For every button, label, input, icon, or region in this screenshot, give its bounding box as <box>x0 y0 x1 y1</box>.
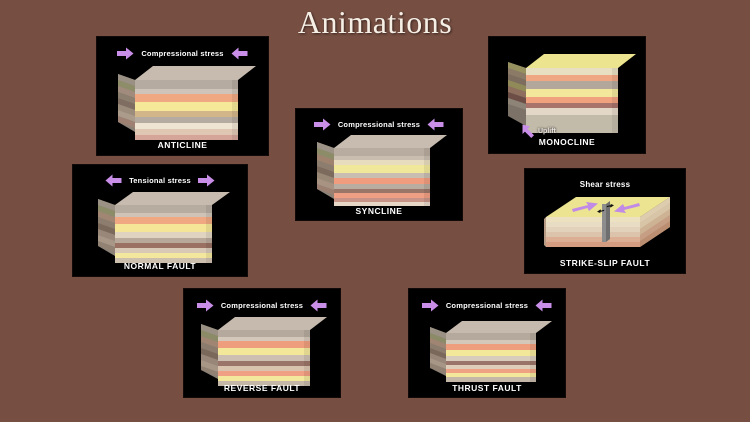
panel-strike-slip-fault[interactable]: Shear stress <box>524 168 686 274</box>
panel-anticline[interactable]: Compressional stress <box>96 36 269 156</box>
panel-label-monocline: MONOCLINE <box>489 137 645 147</box>
arrow-right-icon <box>422 299 439 312</box>
panel-label-normal-fault: NORMAL FAULT <box>73 261 247 271</box>
panel-monocline[interactable]: Uplift MONOCLINE <box>488 36 646 154</box>
panel-thrust-fault[interactable]: Compressional stress <box>408 288 566 398</box>
block-diagram-anticline <box>113 64 258 142</box>
panel-label-syncline: SYNCLINE <box>296 206 462 216</box>
panel-label-thrust-fault: THRUST FAULT <box>409 383 565 393</box>
panel-label-strike-slip: STRIKE-SLIP FAULT <box>525 258 685 268</box>
shear-stress-label: Shear stress <box>525 180 685 189</box>
uplift-label: Uplift <box>538 128 556 135</box>
arrow-left-icon <box>105 174 122 187</box>
arrow-left-icon <box>231 47 248 60</box>
arrow-right-icon <box>198 174 215 187</box>
panel-normal-fault[interactable]: Tensional stress <box>72 164 248 277</box>
panel-label-anticline: ANTICLINE <box>97 140 268 150</box>
arrow-left-icon <box>427 118 444 131</box>
arrow-right-icon <box>314 118 331 131</box>
stress-row-reverse-fault: Compressional stress <box>184 299 340 312</box>
arrow-right-icon <box>117 47 134 60</box>
stress-row-normal-fault: Tensional stress <box>73 174 247 187</box>
stress-label: Compressional stress <box>446 301 528 310</box>
stress-row-thrust-fault: Compressional stress <box>409 299 565 312</box>
panel-label-reverse-fault: REVERSE FAULT <box>184 383 340 393</box>
slide-canvas: Animations Compressional stress <box>0 0 750 422</box>
stress-row-anticline: Compressional stress <box>97 47 268 60</box>
stress-label: Compressional stress <box>338 120 420 129</box>
arrow-right-icon <box>197 299 214 312</box>
block-diagram-normal-fault <box>94 190 232 264</box>
panel-syncline[interactable]: Compressional stress <box>295 108 463 221</box>
block-diagram-syncline <box>313 133 449 207</box>
block-diagram-strike-slip <box>544 195 672 253</box>
block-diagram-thrust-fault <box>426 319 554 383</box>
stress-row-syncline: Compressional stress <box>296 118 462 131</box>
panel-reverse-fault[interactable]: Compressional stress <box>183 288 341 398</box>
arrow-left-icon <box>535 299 552 312</box>
stress-label: Compressional stress <box>141 49 223 58</box>
arrow-left-icon <box>310 299 327 312</box>
stress-label: Compressional stress <box>221 301 303 310</box>
stress-label: Tensional stress <box>129 176 191 185</box>
image-credit <box>607 245 608 248</box>
block-diagram-reverse-fault <box>197 315 329 387</box>
